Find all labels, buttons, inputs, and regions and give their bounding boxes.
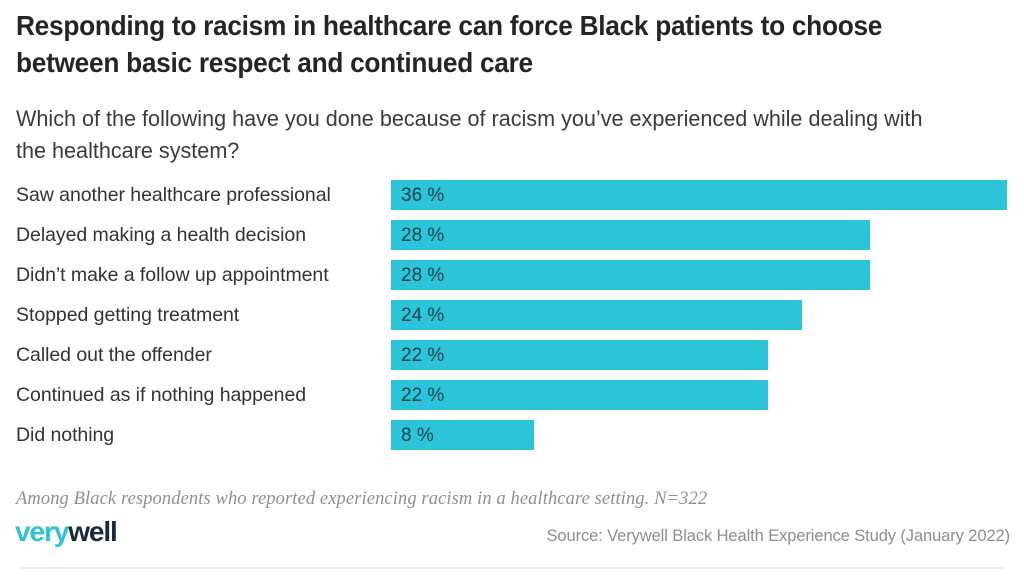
chart-row: Delayed making a health decision 28 % xyxy=(0,220,1024,250)
bar-value-label: 22 % xyxy=(401,340,444,370)
chart-row: Called out the offender 22 % xyxy=(0,340,1024,370)
bar-track: 22 % xyxy=(391,340,1008,370)
bar-track: 22 % xyxy=(391,380,1008,410)
chart-row: Did nothing 8 % xyxy=(0,420,1024,450)
bar-category-label: Called out the offender xyxy=(16,340,382,370)
bar-category-label: Didn’t make a follow up appointment xyxy=(16,260,382,290)
bar-value-label: 28 % xyxy=(401,260,444,290)
bar-value-label: 22 % xyxy=(401,380,444,410)
bar-category-label: Delayed making a health decision xyxy=(16,220,382,250)
bar xyxy=(391,260,870,290)
bar xyxy=(391,340,768,370)
bar xyxy=(391,220,870,250)
bar-value-label: 28 % xyxy=(401,220,444,250)
page-title: Responding to racism in healthcare can f… xyxy=(16,8,963,81)
bar-category-label: Did nothing xyxy=(16,420,382,450)
bar-track: 28 % xyxy=(391,220,1008,250)
bar-category-label: Stopped getting treatment xyxy=(16,300,382,330)
bar-category-label: Saw another healthcare professional xyxy=(16,180,382,210)
chart-row: Stopped getting treatment 24 % xyxy=(0,300,1024,330)
bar-track: 28 % xyxy=(391,260,1008,290)
logo-text-well: well xyxy=(68,516,117,547)
chart-row: Continued as if nothing happened 22 % xyxy=(0,380,1024,410)
bar-value-label: 8 % xyxy=(401,420,434,450)
bar-category-label: Continued as if nothing happened xyxy=(16,380,382,410)
bottom-divider xyxy=(20,567,1004,569)
bar-track: 8 % xyxy=(391,420,1008,450)
bar xyxy=(391,300,802,330)
bar xyxy=(391,380,768,410)
bar-value-label: 36 % xyxy=(401,180,444,210)
bar-chart-plot-area: Saw another healthcare professional 36 %… xyxy=(0,180,1024,460)
chart-subtitle: Which of the following have you done bec… xyxy=(16,103,938,166)
verywell-logo: verywell xyxy=(15,518,117,546)
logo-text-very: very xyxy=(15,516,68,547)
bar-track: 24 % xyxy=(391,300,1008,330)
bar-track: 36 % xyxy=(391,180,1008,210)
chart-row: Didn’t make a follow up appointment 28 % xyxy=(0,260,1024,290)
source-attribution: Source: Verywell Black Health Experience… xyxy=(547,527,1010,546)
chart-footnote: Among Black respondents who reported exp… xyxy=(16,489,707,510)
bar xyxy=(391,180,1007,210)
chart-row: Saw another healthcare professional 36 % xyxy=(0,180,1024,210)
bar-value-label: 24 % xyxy=(401,300,444,330)
chart-page: Responding to racism in healthcare can f… xyxy=(0,0,1024,576)
